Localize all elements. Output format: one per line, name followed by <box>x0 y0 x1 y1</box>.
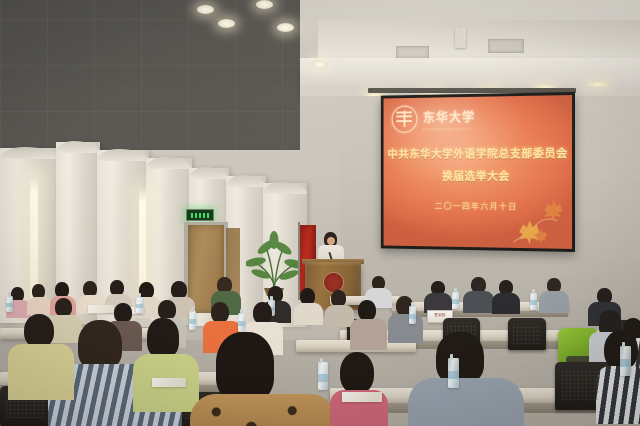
water-bottle <box>530 293 537 310</box>
maple-leaf-decoration <box>506 197 566 245</box>
ceiling-downlight <box>256 0 273 9</box>
logo-chinese-name: 东华大学 <box>423 106 475 125</box>
water-bottle <box>452 292 459 309</box>
water-bottle <box>448 358 459 388</box>
conference-hall-photo: 东华大学 DONGHUA UNIVERSITY 中共东华大学外语学院总支部委员会… <box>0 0 640 426</box>
exit-sign <box>186 209 214 221</box>
ceiling-projector <box>455 28 466 48</box>
water-bottle <box>238 313 245 332</box>
soffit-downlight <box>586 81 610 88</box>
water-bottle <box>189 311 196 330</box>
wall-speaker-grille <box>488 39 524 53</box>
handout-papers <box>152 378 186 387</box>
exit-sign-glyph <box>191 213 209 218</box>
water-bottle <box>318 362 328 390</box>
ceiling-downlight <box>197 5 214 14</box>
donghua-university-emblem-icon <box>392 106 418 133</box>
stacking-chair[interactable] <box>508 318 546 350</box>
water-bottle <box>6 296 13 312</box>
water-bottle <box>409 306 416 324</box>
water-bottle <box>136 297 143 313</box>
handout-papers <box>88 305 114 313</box>
handout-papers <box>342 392 382 402</box>
slide-title-line-2: 换届选举大会 <box>384 168 572 184</box>
logo-english-name: DONGHUA UNIVERSITY <box>423 127 475 131</box>
ceiling-downlight <box>311 60 328 69</box>
water-bottle <box>620 346 631 376</box>
projection-screen: 东华大学 DONGHUA UNIVERSITY 中共东华大学外语学院总支部委员会… <box>384 95 572 249</box>
ceiling-downlight <box>277 23 294 32</box>
ceiling-upper-recess <box>318 20 640 62</box>
presenter-face <box>327 237 335 245</box>
projection-screen-frame: 东华大学 DONGHUA UNIVERSITY 中共东华大学外语学院总支部委员会… <box>381 92 575 252</box>
slide-logo: 东华大学 DONGHUA UNIVERSITY <box>392 105 475 133</box>
ceiling-downlight <box>218 19 235 28</box>
potted-palm <box>246 218 302 296</box>
slide-title-line-1: 中共东华大学外语学院总支部委员会 <box>384 145 572 161</box>
